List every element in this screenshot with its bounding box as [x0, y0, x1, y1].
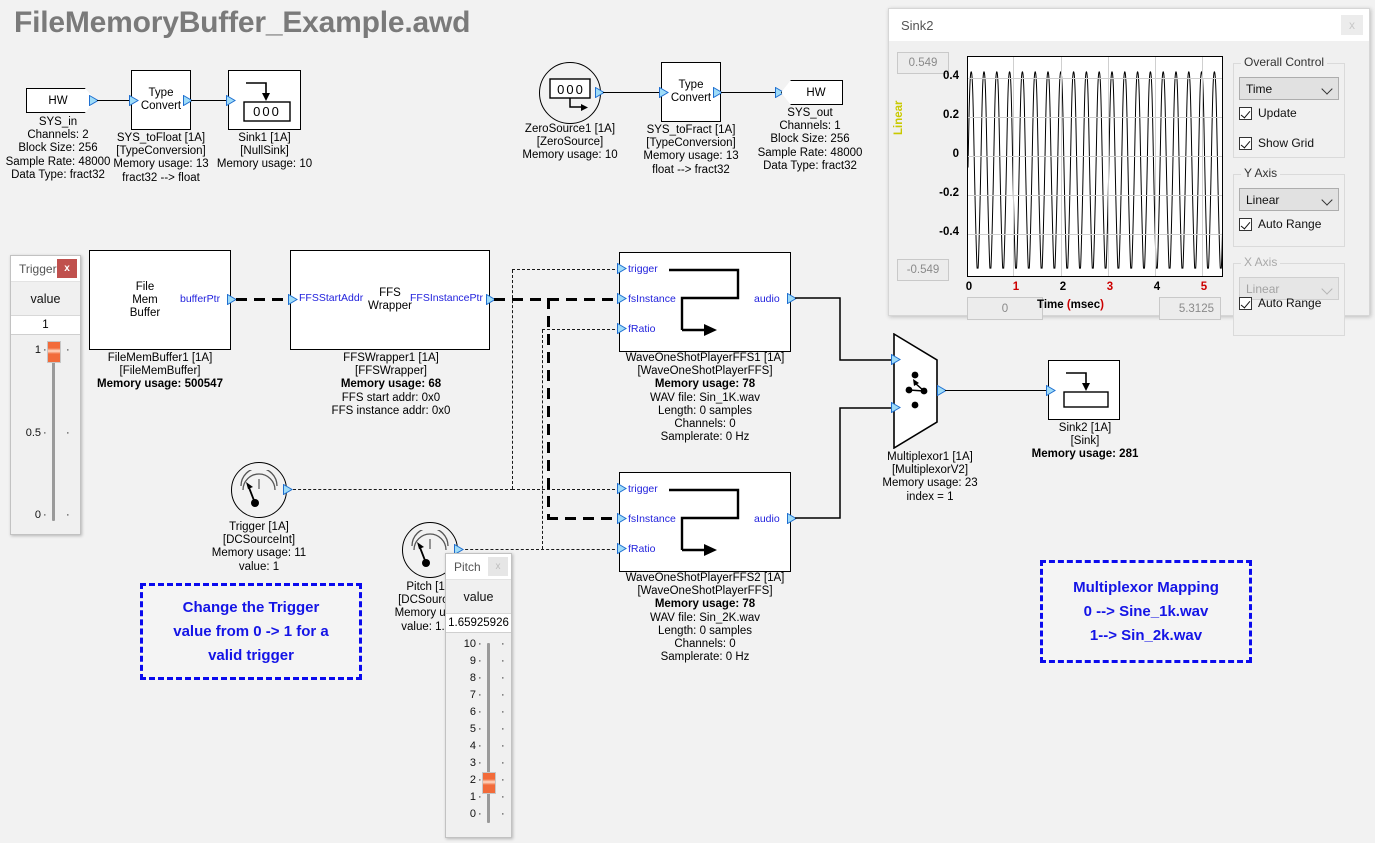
sink2-glyph: [1060, 368, 1112, 414]
scope-window[interactable]: Sink2 x 0.549 -0.549 Linear 0.4 0.2 0 -0…: [888, 8, 1370, 316]
pitch-dot-r-2: ·: [501, 774, 505, 786]
scope-close-button[interactable]: x: [1341, 15, 1363, 35]
pitch-dot-l-3: ·: [478, 757, 482, 769]
y-axis-legend: Y Axis: [1241, 166, 1280, 180]
pitch-tick-10: 10: [448, 638, 476, 650]
pitch-dot-r-8: ·: [501, 672, 505, 684]
pitch-tick-6: 6: [448, 706, 476, 718]
player2-caption: WaveOneShotPlayerFFS2 [1A] [WaveOneShotP…: [608, 572, 802, 664]
gridline-v-5: [1202, 57, 1203, 276]
player2-fratio-label: fRatio: [628, 543, 655, 555]
player2-audio-label: audio: [754, 513, 780, 525]
trigger-tick-dot-left-1: ·: [43, 344, 47, 356]
pitch-dot-r-4: ·: [501, 740, 505, 752]
player1-fsinstance-label: fsInstance: [628, 293, 676, 305]
scope-titlebar[interactable]: Sink2 x: [889, 9, 1369, 41]
pitch-dot-l-6: ·: [478, 706, 482, 718]
pitch-dot-r-5: ·: [501, 723, 505, 735]
trigger-tick-0p5: 0.5: [11, 427, 41, 439]
sink1-input-port[interactable]: [226, 95, 235, 106]
pitch-tick-7: 7: [448, 689, 476, 701]
trigger-tick-dot-left-2: ·: [43, 427, 47, 439]
x-auto-range-checkbox[interactable]: Auto Range: [1239, 296, 1321, 310]
wire-tofract-sysout: [721, 92, 777, 93]
scope-ytick-3: -0.2: [925, 187, 959, 199]
gridline-v-4: [1155, 57, 1156, 276]
player1-fratio-label: fRatio: [628, 323, 655, 335]
ffswrapper-in-label: FFSStartAddr: [299, 292, 363, 304]
scope-ytick-1: 0.2: [929, 109, 959, 121]
wire-sysin-tofloat: [97, 100, 132, 101]
filemembuffer-output-port[interactable]: [227, 294, 236, 305]
block-sys-tofract[interactable]: Type Convert: [661, 62, 721, 122]
pitch-dot-l-4: ·: [478, 740, 482, 752]
pitch-dot-r-7: ·: [501, 689, 505, 701]
player1-fsinstance-port[interactable]: [617, 293, 626, 304]
pitch-slider-thumb[interactable]: [482, 772, 496, 794]
scope-title-text: Sink2: [901, 18, 934, 33]
gridline-h-1: [968, 78, 1222, 79]
ffswrapper-input-port[interactable]: [288, 294, 297, 305]
wire-zerosource-tofract: [603, 92, 661, 93]
pitch-dot-r-3: ·: [501, 757, 505, 769]
trigger-slider[interactable]: 1 · · 0.5 · · 0 · ·: [11, 335, 80, 533]
zerosource-digits: 000: [551, 82, 591, 97]
pitch-tick-9: 9: [448, 655, 476, 667]
scope-xtick-3: 3: [1102, 281, 1118, 293]
pitch-dot-l-1: ·: [478, 791, 482, 803]
pitch-dot-r-0: ·: [501, 808, 505, 820]
sys-in-caption: SYS_in Channels: 2 Block Size: 256 Sampl…: [0, 116, 116, 182]
wire-tofloat-sink1: [191, 100, 227, 101]
pitch-slider[interactable]: 10 · · 9 · · 8 · · 7 · · 6 · · 5 · · 4 ·…: [446, 633, 511, 836]
pitch-panel-title: Pitch: [454, 560, 481, 574]
trigger-gauge-output-port[interactable]: [283, 484, 292, 495]
sink1-caption: Sink1 [1A] [NullSink] Memory usage: 10: [208, 132, 321, 172]
page-title: FileMemoryBuffer_Example.awd: [14, 6, 470, 40]
mux-input-port-1[interactable]: [891, 402, 900, 413]
player2-fsinstance-port[interactable]: [617, 513, 626, 524]
scope-xtick-0: 0: [961, 281, 977, 293]
filemembuffer-caption: FileMemBuffer1 [1A] [FileMemBuffer] Memo…: [94, 352, 226, 392]
sys-tofract-label: Type Convert: [671, 79, 711, 105]
pitch-panel-titlebar[interactable]: Pitch x: [446, 554, 511, 580]
wire-fsinstance-vertical: [547, 298, 550, 518]
block-sys-out[interactable]: HW: [781, 80, 843, 105]
scope-ytick-4: -0.4: [925, 226, 959, 238]
pitch-tick-3: 3: [448, 757, 476, 769]
sys-tofloat-label: Type Convert: [141, 87, 181, 113]
checkbox-icon: [1239, 137, 1252, 150]
wire-fratio-h2: [542, 329, 620, 330]
gridline-h-4: [968, 195, 1222, 196]
update-checkbox[interactable]: Update: [1239, 106, 1297, 120]
pitch-dot-r-9: ·: [501, 655, 505, 667]
trigger-gauge-needle: [237, 470, 281, 512]
y-auto-range-checkbox[interactable]: Auto Range: [1239, 217, 1321, 231]
pitch-tick-2: 2: [448, 774, 476, 786]
ffswrapper-label: FFS Wrapper: [368, 287, 412, 313]
scope-ymin-field[interactable]: -0.549: [897, 259, 949, 281]
y-axis-scale-select[interactable]: Linear: [1239, 188, 1339, 211]
sys-tofract-input-port[interactable]: [659, 87, 668, 98]
show-grid-checkbox[interactable]: Show Grid: [1239, 136, 1314, 150]
sys-in-shape: HW: [26, 88, 96, 113]
zerosource-caption: ZeroSource1 [1A] [ZeroSource] Memory usa…: [512, 123, 628, 163]
checkbox-icon: [1239, 107, 1252, 120]
scope-x-axis-label: Time (msec): [1037, 299, 1104, 311]
scope-ytick-0: 0.4: [929, 70, 959, 82]
chevron-down-icon: [1321, 194, 1332, 205]
trigger-panel-value-label: value: [11, 282, 80, 316]
sink1-digits: 000: [245, 104, 289, 119]
wire-fratio-v: [542, 330, 543, 549]
sink2-caption: Sink2 [1A] [Sink] Memory usage: 281: [1022, 422, 1148, 462]
pitch-panel[interactable]: Pitch x value 1.65925926 10 · · 9 · · 8 …: [445, 553, 512, 838]
trigger-panel[interactable]: Trigger x value 1 1 · · 0.5 · · 0 · ·: [10, 255, 81, 535]
wire-trigger-h3: [512, 489, 620, 490]
player1-trigger-port[interactable]: [617, 263, 626, 274]
trigger-panel-titlebar[interactable]: Trigger x: [11, 256, 80, 282]
player1-trigger-label: trigger: [628, 263, 658, 275]
sink2-input-port[interactable]: [1046, 385, 1055, 396]
pitch-dot-l-9: ·: [478, 655, 482, 667]
scope-plot-area[interactable]: [967, 56, 1223, 277]
sys-tofract-caption: SYS_toFract [1A] [TypeConversion] Memory…: [634, 124, 748, 177]
player1-audio-label: audio: [754, 293, 780, 305]
trigger-panel-close-button[interactable]: x: [57, 259, 77, 278]
checkbox-icon: [1239, 297, 1252, 310]
player2-fratio-port[interactable]: [617, 543, 626, 554]
player1-fratio-port[interactable]: [617, 323, 626, 334]
ffswrapper-out-label: FFSInstancePtr: [410, 292, 483, 304]
pitch-tick-5: 5: [448, 723, 476, 735]
player2-trigger-port[interactable]: [617, 483, 626, 494]
trigger-slider-track[interactable]: [52, 349, 55, 521]
scope-xmin-field[interactable]: 0: [967, 297, 1043, 320]
gridline-h-3: [968, 156, 1222, 157]
trigger-tick-dot-left-3: ·: [43, 509, 47, 521]
pitch-dot-r-6: ·: [501, 706, 505, 718]
gridline-v-2: [1061, 57, 1062, 276]
scope-xtick-5: 5: [1196, 281, 1212, 293]
wire-trigger-h2: [512, 269, 620, 270]
pitch-dot-r-10: ·: [501, 638, 505, 650]
pitch-dot-r-1: ·: [501, 791, 505, 803]
pitch-dot-l-8: ·: [478, 672, 482, 684]
wire-trigger-h1: [288, 489, 513, 490]
gridline-h-2: [968, 117, 1222, 118]
filemembuffer-label: File Mem Buffer: [130, 281, 160, 320]
scope-y-axis-label: Linear: [893, 100, 905, 135]
trigger-tick-dot-right-2: ·: [66, 427, 70, 439]
scope-ytick-2: 0: [929, 148, 959, 160]
gridline-v-1: [1013, 57, 1014, 276]
pitch-tick-1: 1: [448, 791, 476, 803]
gridline-v-3: [1108, 57, 1109, 276]
pitch-panel-close-button[interactable]: x: [488, 557, 508, 576]
player2-fsinstance-label: fsInstance: [628, 513, 676, 525]
sys-out-caption: SYS_out Channels: 1 Block Size: 256 Samp…: [752, 107, 868, 173]
overall-control-legend: Overall Control: [1241, 55, 1327, 69]
checkbox-icon: [1239, 218, 1252, 231]
scope-xtick-2: 2: [1055, 281, 1071, 293]
mux-input-port-0[interactable]: [891, 354, 900, 365]
gridline-h-5: [968, 234, 1222, 235]
trigger-tick-dot-right-3: ·: [66, 509, 70, 521]
x-axis-legend: X Axis: [1241, 255, 1280, 269]
trigger-tick-0: 0: [17, 509, 41, 521]
wire-fratio-h1: [455, 549, 620, 550]
note-trigger: Change the Trigger value from 0 -> 1 for…: [140, 583, 362, 680]
wire-trigger-v: [512, 270, 513, 489]
multiplexor-caption: Multiplexor1 [1A] [MultiplexorV2] Memory…: [866, 451, 994, 504]
ffswrapper-caption: FFSWrapper1 [1A] [FFSWrapper] Memory usa…: [318, 352, 464, 418]
scope-waveform: [968, 57, 1223, 277]
pitch-dot-l-5: ·: [478, 723, 482, 735]
pitch-dot-l-2: ·: [478, 774, 482, 786]
sys-tofloat-input-port[interactable]: [129, 95, 138, 106]
note-multiplexor-mapping: Multiplexor Mapping 0 --> Sine_1k.wav 1-…: [1040, 560, 1252, 663]
scope-xmax-field[interactable]: 5.3125: [1159, 297, 1221, 320]
block-sys-tofloat[interactable]: Type Convert: [131, 70, 191, 130]
pitch-dot-l-10: ·: [478, 638, 482, 650]
player1-caption: WaveOneShotPlayerFFS1 [1A] [WaveOneShotP…: [608, 352, 802, 444]
pitch-dot-l-7: ·: [478, 689, 482, 701]
pitch-slider-track[interactable]: [487, 643, 490, 823]
sys-tofloat-caption: SYS_toFloat [1A] [TypeConversion] Memory…: [104, 132, 218, 185]
player2-trigger-label: trigger: [628, 483, 658, 495]
scope-xtick-1: 1: [1008, 281, 1024, 293]
trigger-panel-title: Trigger: [19, 262, 57, 276]
pitch-dot-l-0: ·: [478, 808, 482, 820]
pitch-panel-value-label: value: [446, 580, 511, 614]
wire-mux-sink2: [945, 390, 1048, 391]
trigger-tick-1: 1: [17, 344, 41, 356]
filemembuffer-out-label: bufferPtr: [180, 293, 220, 305]
trigger-slider-thumb[interactable]: [47, 341, 61, 363]
pitch-panel-value-field[interactable]: 1.65925926: [446, 614, 511, 633]
trigger-gauge-caption: Trigger [1A] [DCSourceInt] Memory usage:…: [196, 521, 322, 574]
pitch-tick-4: 4: [448, 740, 476, 752]
chevron-down-icon: [1321, 83, 1332, 94]
trigger-panel-value-field[interactable]: 1: [11, 316, 80, 335]
pitch-tick-0: 0: [448, 808, 476, 820]
scope-xtick-4: 4: [1149, 281, 1165, 293]
chevron-down-icon: [1321, 283, 1332, 294]
pitch-tick-8: 8: [448, 672, 476, 684]
trigger-tick-dot-right-1: ·: [66, 344, 70, 356]
overall-control-mode-select[interactable]: Time: [1239, 77, 1339, 100]
wire-fsinstance-bottom: [547, 517, 618, 520]
